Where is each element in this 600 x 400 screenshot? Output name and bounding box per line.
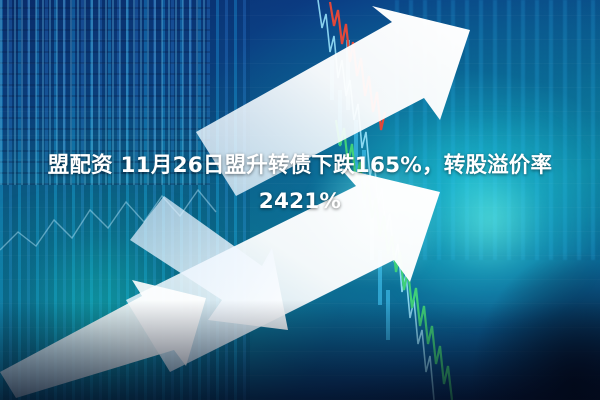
headline-text: 盟配资 11月26日盟升转债下跌165%，转股溢价率2421% [0, 148, 600, 220]
image-canvas: 盟配资 11月26日盟升转债下跌165%，转股溢价率2421% [0, 0, 600, 400]
corner-vignette [470, 250, 600, 400]
